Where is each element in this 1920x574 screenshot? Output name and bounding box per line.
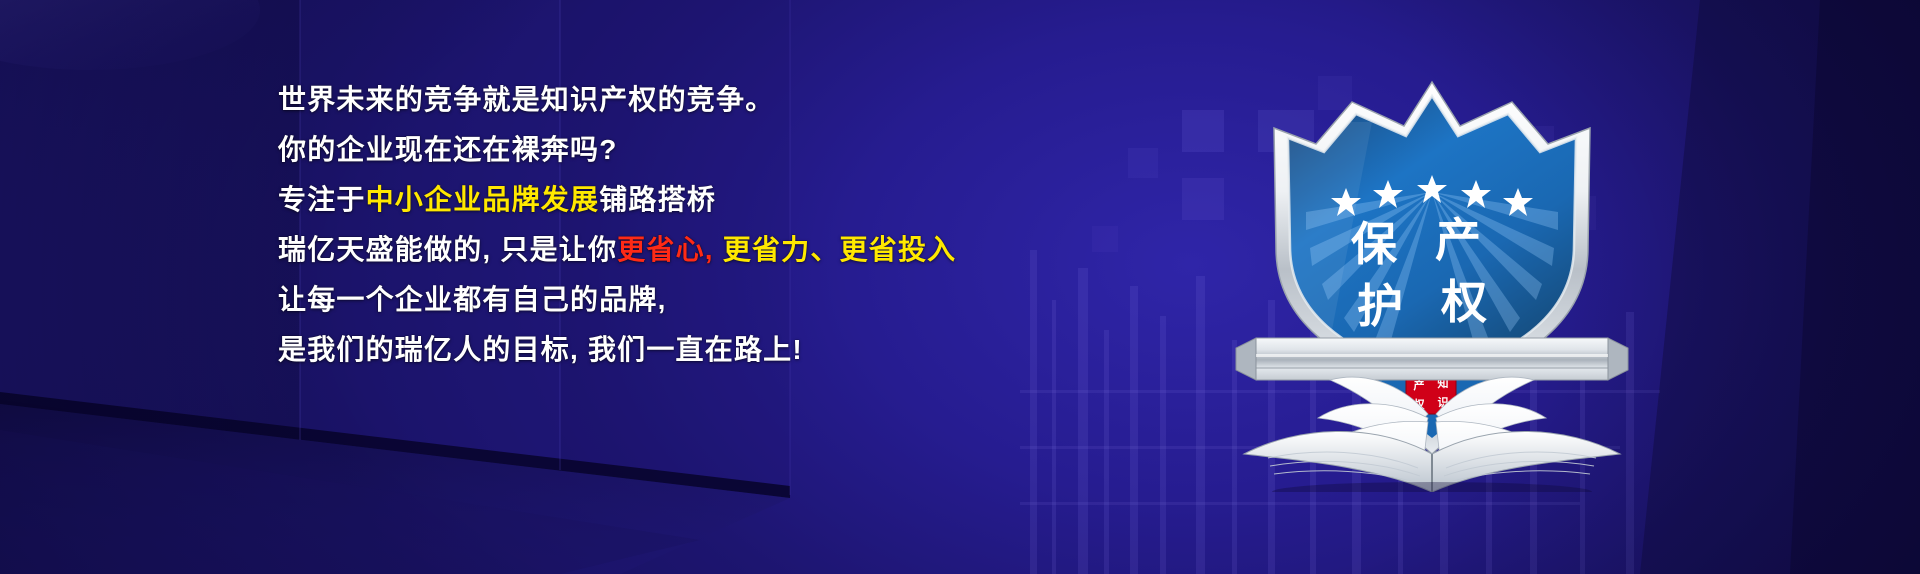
promotional-banner: 世界未来的竞争就是知识产权的竞争。 你的企业现在还在裸奔吗? 专注于中小企业品牌… xyxy=(0,0,1920,574)
line4-highlight-yellow: 更省力、更省投入 xyxy=(714,234,957,265)
shield-char-3: 护 xyxy=(1357,281,1403,332)
shield-emblem: 保 产 护 权 产 知 权 识 xyxy=(1222,62,1642,492)
headline-line-2: 你的企业现在还在裸奔吗? xyxy=(278,136,958,164)
headline-line-3: 专注于中小企业品牌发展铺路搭桥 xyxy=(278,186,958,214)
line3-highlight: 中小企业品牌发展 xyxy=(366,184,600,215)
line3-part-c: 铺路搭桥 xyxy=(599,184,716,215)
shield-char-2: 产 xyxy=(1435,215,1481,266)
shield-char-1: 保 xyxy=(1351,219,1398,270)
headline-line-4: 瑞亿天盛能做的, 只是让你更省心, 更省力、更省投入 xyxy=(278,236,958,264)
headline-line-6: 是我们的瑞亿人的目标, 我们一直在路上! xyxy=(278,336,958,364)
headline-line-5: 让每一个企业都有自己的品牌, xyxy=(278,286,958,314)
silver-ribbon xyxy=(1236,338,1628,380)
headline-copy-block: 世界未来的竞争就是知识产权的竞争。 你的企业现在还在裸奔吗? 专注于中小企业品牌… xyxy=(278,86,958,364)
line4-part-a: 瑞亿天盛能做的, 只是让你 xyxy=(278,234,617,265)
line3-part-a: 专注于 xyxy=(278,184,366,215)
line4-highlight-red: 更省心, xyxy=(617,234,714,265)
shield-char-4: 权 xyxy=(1440,277,1487,328)
headline-line-1: 世界未来的竞争就是知识产权的竞争。 xyxy=(278,86,958,114)
